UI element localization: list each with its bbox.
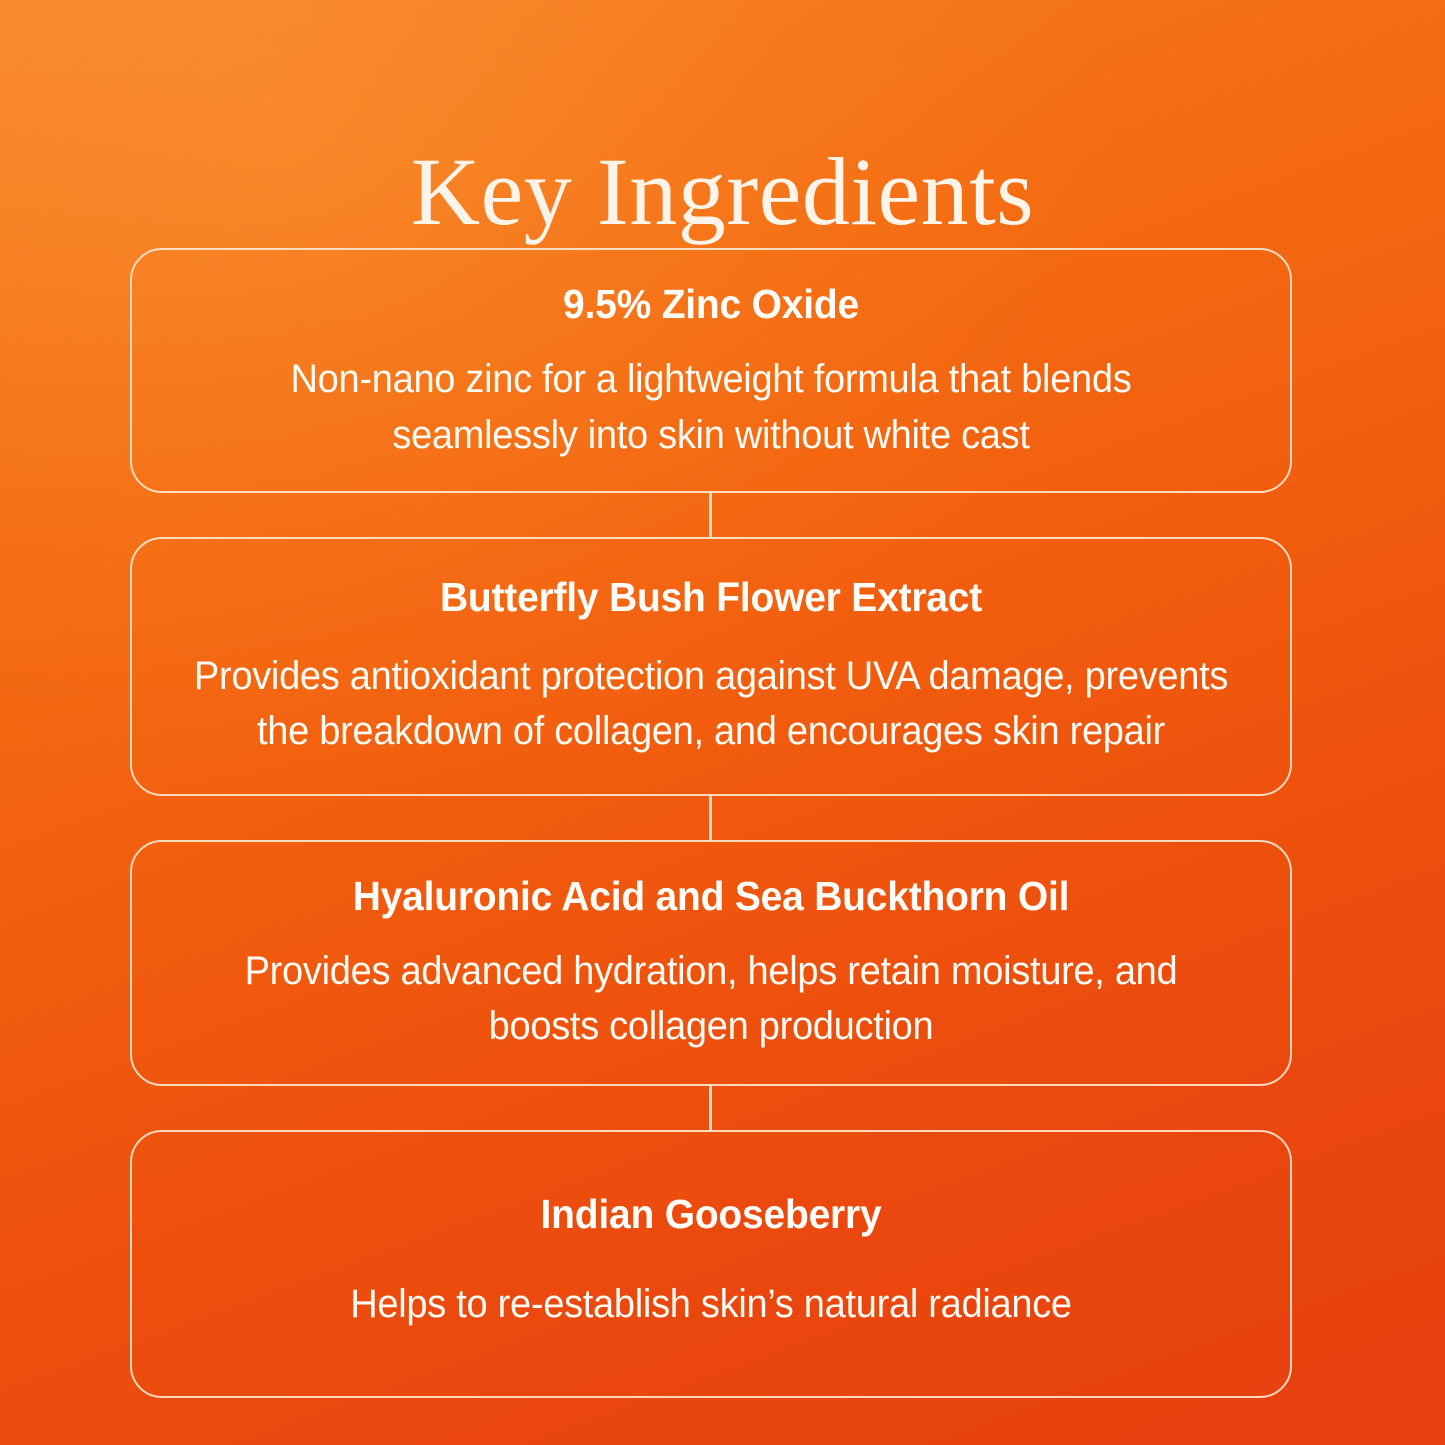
ingredient-description: Helps to re-establish skin’s natural rad… <box>193 1277 1229 1332</box>
ingredient-description: Provides antioxidant protection against … <box>193 649 1229 759</box>
ingredient-title: 9.5% Zinc Oxide <box>193 280 1229 328</box>
ingredient-card-list: 9.5% Zinc Oxide Non-nano zinc for a ligh… <box>130 248 1292 1398</box>
ingredient-card-indian-gooseberry: Indian Gooseberry Helps to re-establish … <box>130 1130 1292 1398</box>
card-connector-line <box>130 1086 1292 1130</box>
ingredient-description: Provides advanced hydration, helps retai… <box>193 944 1229 1054</box>
ingredient-title: Butterfly Bush Flower Extract <box>193 573 1229 621</box>
card-connector-line <box>130 493 1292 537</box>
ingredient-card-hyaluronic-acid-sea-buckthorn-oil: Hyaluronic Acid and Sea Buckthorn Oil Pr… <box>130 840 1292 1087</box>
ingredient-title: Indian Gooseberry <box>193 1190 1229 1238</box>
ingredient-card-zinc-oxide: 9.5% Zinc Oxide Non-nano zinc for a ligh… <box>130 248 1292 493</box>
card-connector-line <box>130 796 1292 840</box>
ingredient-title: Hyaluronic Acid and Sea Buckthorn Oil <box>193 872 1229 920</box>
key-ingredients-poster: Key Ingredients 9.5% Zinc Oxide Non-nano… <box>0 0 1445 1445</box>
ingredient-description: Non-nano zinc for a lightweight formula … <box>193 352 1229 462</box>
ingredient-card-butterfly-bush-flower-extract: Butterfly Bush Flower Extract Provides a… <box>130 537 1292 796</box>
page-title: Key Ingredients <box>0 142 1445 243</box>
